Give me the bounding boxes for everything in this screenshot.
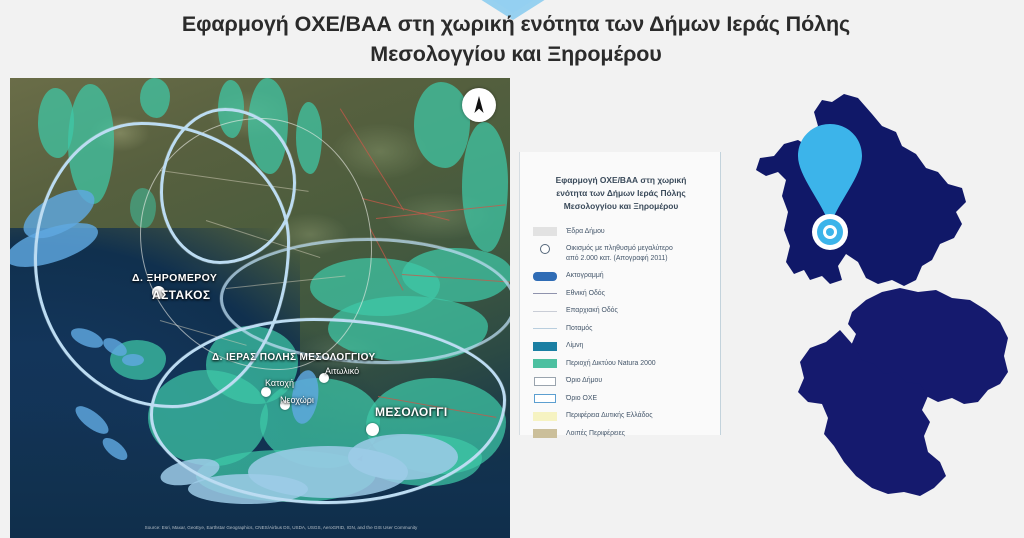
legend-item-oikismos: Οικισμός με πληθυσμό μεγαλύτερο από 2.00…	[531, 244, 711, 265]
legend-label: Εθνική Οδός	[566, 288, 605, 299]
natura-area	[140, 78, 170, 118]
legend-swatch-circle-outline	[531, 244, 559, 255]
legend-label: Έδρα Δήμου	[566, 226, 605, 237]
north-arrow-icon	[462, 88, 496, 122]
legend-swatch-square	[531, 358, 559, 369]
legend-label: Περιφέρεια Δυτικής Ελλάδος	[566, 411, 653, 422]
legend-item-loipes-perifereies: Λοιπές Περιφέρειες	[531, 428, 711, 439]
legend-label: Όριο Δήμου	[566, 376, 602, 387]
legend-swatch-box-outline	[531, 376, 559, 387]
municipalities-map[interactable]	[756, 286, 1024, 526]
map-label-mesologgiou-dimos: Δ. ΙΕΡΑΣ ΠΟΛΗΣ ΜΕΣΟΛΟΓΓΙΟΥ	[212, 352, 376, 363]
legend-swatch-square	[531, 411, 559, 422]
legend-item-perifereia-dytikis-elladas: Περιφέρεια Δυτικής Ελλάδος	[531, 411, 711, 422]
legend-label: Λοιπές Περιφέρειες	[566, 428, 625, 439]
natura-area	[414, 82, 470, 168]
legend-title: Εφαρμογή ΟΧΕ/ΒΑΑ στη χωρική ενότητα των …	[533, 174, 709, 213]
legend-swatch-square	[531, 226, 559, 237]
legend-label: Όριο ΟΧΕ	[566, 393, 597, 404]
map-legend-panel: Εφαρμογή ΟΧΕ/ΒΑΑ στη χωρική ενότητα των …	[519, 152, 721, 435]
settlement-marker[interactable]	[366, 423, 379, 436]
regional-context-map[interactable]	[726, 84, 1024, 316]
legend-item-natura: Περιοχή Δικτύου Natura 2000	[531, 358, 711, 369]
legend-item-limni: Λίμνη	[531, 341, 711, 352]
legend-swatch-square	[531, 341, 559, 352]
legend-item-aktogrammi: Ακτογραμμή	[531, 271, 711, 282]
page-title: Εφαρμογή ΟΧΕ/ΒΑΑ στη χωρική ενότητα των …	[96, 10, 936, 69]
legend-label: Λίμνη	[566, 341, 583, 352]
legend-label: Ακτογραμμή	[566, 271, 604, 282]
settlement-marker[interactable]	[261, 387, 271, 397]
legend-item-orio-oxe: Όριο ΟΧΕ	[531, 393, 711, 404]
natura-area	[462, 122, 508, 252]
map-label-neochori: Νεοχώρι	[280, 395, 314, 405]
legend-label: Οικισμός με πληθυσμό μεγαλύτερο από 2.00…	[566, 244, 673, 265]
legend-swatch-line	[531, 306, 559, 317]
map-label-ximeromerou: Δ. ΞΗΡΟΜΕΡΟΥ	[132, 272, 217, 284]
legend-item-eparchiaki-odos: Επαρχιακή Οδός	[531, 306, 711, 317]
region-shape	[756, 94, 966, 286]
map-label-astakos: ΑΣΤΑΚΟΣ	[152, 288, 210, 302]
legend-item-orio-dimou: Όριο Δήμου	[531, 376, 711, 387]
map-attribution: Source: Esri, Maxar, GeoEye, Earthstar G…	[60, 525, 502, 532]
legend-swatch-square	[531, 428, 559, 439]
legend-label: Περιοχή Δικτύου Natura 2000	[566, 358, 656, 369]
natura-area	[38, 88, 74, 158]
legend-swatch-square	[531, 271, 559, 282]
map-label-mesologgi: ΜΕΣΟΛΟΓΓΙ	[375, 405, 448, 419]
legend-item-potamos: Ποταμός	[531, 323, 711, 334]
legend-item-ethniki-odos: Εθνική Οδός	[531, 288, 711, 299]
map-label-katochi: Κατοχή	[265, 378, 294, 388]
legend-swatch-line	[531, 323, 559, 334]
legend-item-edra-dimou: Έδρα Δήμου	[531, 226, 711, 237]
legend-swatch-line	[531, 288, 559, 299]
legend-label: Επαρχιακή Οδός	[566, 306, 618, 317]
main-map[interactable]: Δ. ΞΗΡΟΜΕΡΟΥ ΑΣΤΑΚΟΣ Δ. ΙΕΡΑΣ ΠΟΛΗΣ ΜΕΣΟ…	[10, 78, 510, 538]
legend-swatch-box-outline	[531, 393, 559, 404]
legend-label: Ποταμός	[566, 323, 592, 334]
map-label-aitoliko: Αιτωλικό	[325, 366, 359, 376]
